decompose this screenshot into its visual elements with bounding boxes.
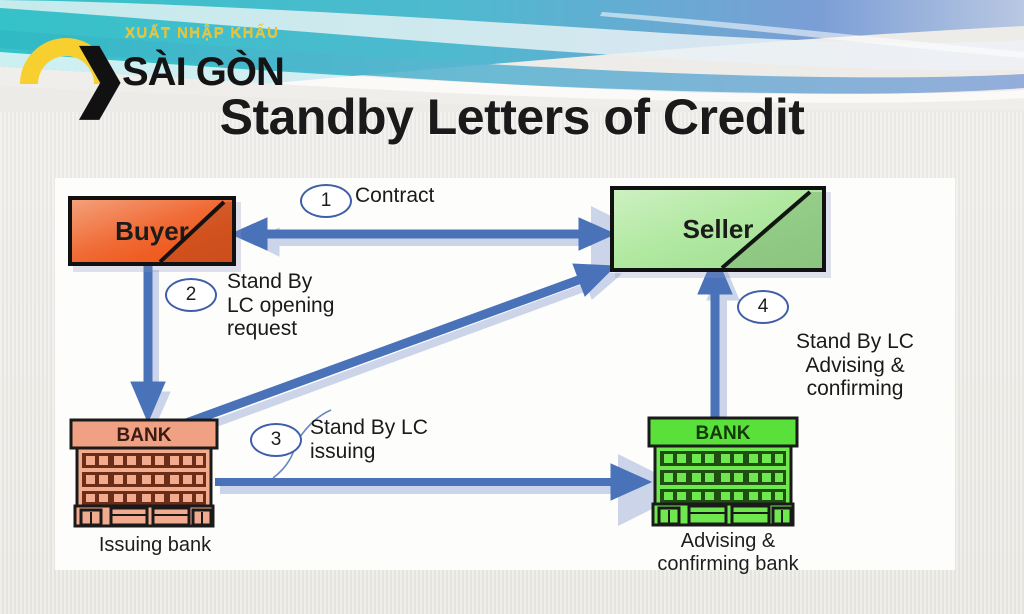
step-label-4: Stand By LC Advising & confirming: [760, 330, 950, 401]
svg-text:BANK: BANK: [696, 423, 751, 444]
step-label-3-line2: issuing: [310, 440, 500, 464]
step-marker-1: 1: [300, 184, 352, 218]
svg-text:BANK: BANK: [117, 425, 172, 446]
bank-building-icon: BANK: [647, 416, 799, 528]
step-number-1: 1: [321, 190, 332, 212]
step-marker-2: 2: [165, 278, 217, 312]
step-label-4-line3: confirming: [760, 377, 950, 401]
step-label-2-line2: LC opening: [227, 294, 397, 318]
step-label-4-line2: Advising &: [760, 354, 950, 378]
node-buyer-label: Buyer: [115, 216, 189, 247]
node-seller[interactable]: Seller: [610, 186, 826, 272]
advising-bank-caption: Advising & confirming bank: [603, 530, 853, 576]
node-advising-bank[interactable]: BANK: [647, 416, 799, 533]
step-label-3: Stand By LC issuing: [310, 416, 500, 463]
node-seller-label: Seller: [683, 214, 754, 245]
step-label-1: Contract: [355, 184, 434, 208]
step-label-3-line1: Stand By LC: [310, 416, 500, 440]
issuing-bank-caption: Issuing bank: [55, 534, 255, 557]
brand-tagline: XUẤT NHẬP KHẨU: [125, 24, 279, 41]
footer-smudge: [360, 594, 660, 606]
node-issuing-bank[interactable]: BANK: [69, 418, 219, 533]
step-label-2: Stand By LC opening request: [227, 270, 397, 341]
bank-building-icon: BANK: [69, 418, 219, 528]
step-label-1-line1: Contract: [355, 184, 434, 208]
step-label-2-line1: Stand By: [227, 270, 397, 294]
advising-bank-caption-line2: confirming bank: [603, 553, 853, 576]
step-label-4-line1: Stand By LC: [760, 330, 950, 354]
step-marker-4: 4: [737, 290, 789, 324]
diagram-panel: Buyer Seller BANK: [55, 178, 955, 570]
step-number-4: 4: [758, 296, 769, 318]
step-number-3: 3: [271, 429, 282, 451]
advising-bank-caption-line1: Advising &: [603, 530, 853, 553]
step-number-2: 2: [186, 284, 197, 306]
step-marker-3: 3: [250, 423, 302, 457]
node-buyer[interactable]: Buyer: [68, 196, 236, 266]
page-title: Standby Letters of Credit: [0, 88, 1024, 146]
step-label-2-line3: request: [227, 317, 397, 341]
